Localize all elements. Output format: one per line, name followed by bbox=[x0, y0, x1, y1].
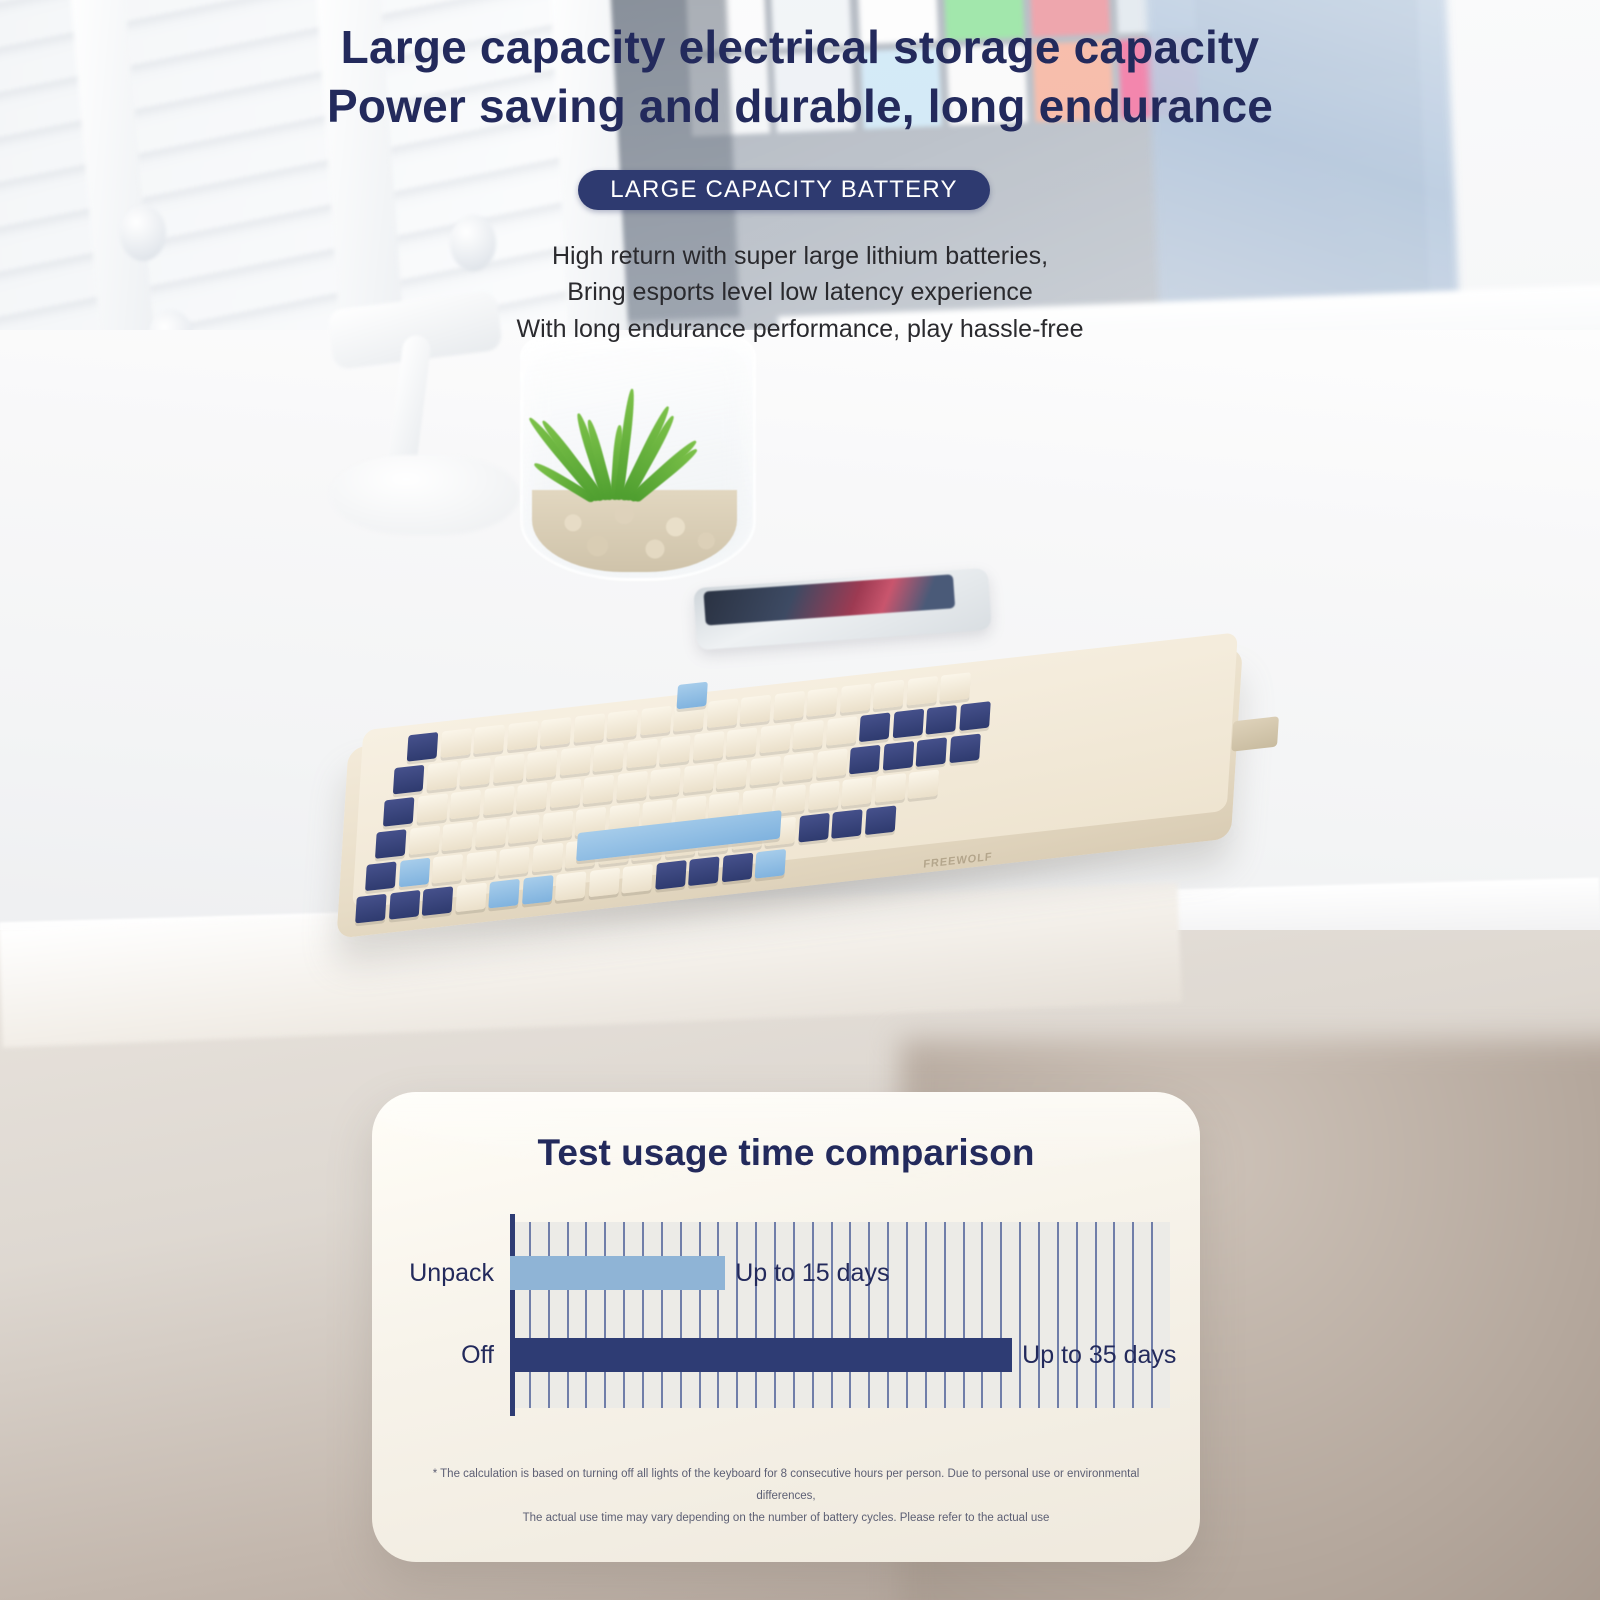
gridline bbox=[1038, 1222, 1040, 1408]
keycap bbox=[540, 717, 571, 747]
keycap bbox=[508, 814, 539, 844]
keycap bbox=[726, 727, 757, 757]
keycap bbox=[649, 767, 680, 797]
bar-off bbox=[510, 1338, 1012, 1372]
card-footnote: * The calculation is based on turning of… bbox=[372, 1464, 1200, 1530]
keycap bbox=[808, 781, 839, 811]
keycap bbox=[798, 813, 829, 843]
gridline bbox=[981, 1222, 983, 1408]
keycap bbox=[849, 745, 880, 775]
keycap bbox=[721, 853, 752, 883]
hero-headline: Large capacity electrical storage capaci… bbox=[0, 18, 1600, 136]
gridline bbox=[887, 1222, 889, 1408]
category-label-off: Off bbox=[374, 1341, 494, 1370]
keycap bbox=[475, 818, 506, 848]
gridline bbox=[831, 1222, 833, 1408]
keycap bbox=[626, 739, 657, 769]
gridline bbox=[604, 1222, 606, 1408]
gridline bbox=[963, 1222, 965, 1408]
keycap bbox=[873, 680, 904, 710]
keycap bbox=[583, 775, 614, 805]
keycap bbox=[465, 850, 496, 880]
keycap bbox=[716, 760, 747, 790]
gridline bbox=[812, 1222, 814, 1408]
gridline bbox=[1132, 1222, 1134, 1408]
desk-lamp-base bbox=[330, 455, 520, 535]
gridline bbox=[529, 1222, 531, 1408]
gridline bbox=[925, 1222, 927, 1408]
keycap bbox=[688, 856, 719, 886]
gridline bbox=[868, 1222, 870, 1408]
gridline bbox=[1076, 1222, 1078, 1408]
keycap bbox=[906, 676, 937, 706]
keycap bbox=[939, 672, 970, 702]
gridline bbox=[585, 1222, 587, 1408]
keycap bbox=[549, 778, 580, 808]
keycap bbox=[383, 797, 414, 827]
gridline bbox=[699, 1222, 701, 1408]
keycap bbox=[755, 849, 786, 879]
keyboard-side-port bbox=[1231, 716, 1279, 752]
headline-line-2: Power saving and durable, long endurance bbox=[0, 77, 1600, 136]
gridline bbox=[944, 1222, 946, 1408]
keycap bbox=[792, 720, 823, 750]
keycap bbox=[864, 805, 895, 835]
usage-comparison-card: Test usage time comparison Unpack Off Up… bbox=[372, 1092, 1200, 1562]
keycap bbox=[616, 771, 647, 801]
chart-y-axis bbox=[510, 1214, 515, 1416]
gridline bbox=[1019, 1222, 1021, 1408]
keycap bbox=[621, 864, 652, 894]
keycap bbox=[522, 875, 553, 905]
keycap bbox=[816, 749, 847, 779]
subcopy-line-3: With long endurance performance, play ha… bbox=[0, 311, 1600, 347]
subcopy-line-2: Bring esports level low latency experien… bbox=[0, 274, 1600, 310]
gridline bbox=[548, 1222, 550, 1408]
headline-line-1: Large capacity electrical storage capaci… bbox=[0, 18, 1600, 77]
value-label-off: Up to 35 days bbox=[1022, 1341, 1176, 1370]
keycap bbox=[874, 773, 905, 803]
keycap bbox=[407, 732, 438, 762]
keycap bbox=[841, 777, 872, 807]
keycap bbox=[426, 761, 457, 791]
gridline bbox=[1113, 1222, 1115, 1408]
keycap bbox=[388, 890, 419, 920]
keycap bbox=[692, 731, 723, 761]
product-marketing-image: FREEWOLF Large capacity electrical stora… bbox=[0, 0, 1600, 1600]
keycap bbox=[773, 691, 804, 721]
keycap bbox=[926, 705, 957, 735]
keycap bbox=[440, 728, 471, 758]
gridline bbox=[642, 1222, 644, 1408]
gridline bbox=[736, 1222, 738, 1408]
keycap bbox=[483, 786, 514, 816]
keycap bbox=[355, 894, 386, 924]
keycap bbox=[507, 721, 538, 751]
keycap bbox=[859, 712, 890, 742]
gridline bbox=[567, 1222, 569, 1408]
gridline bbox=[849, 1222, 851, 1408]
keycap bbox=[806, 687, 837, 717]
footnote-line-2: The actual use time may vary depending o… bbox=[406, 1508, 1166, 1530]
keycap bbox=[532, 843, 563, 873]
keycap bbox=[706, 698, 737, 728]
gridline bbox=[793, 1222, 795, 1408]
gridline bbox=[717, 1222, 719, 1408]
keycap bbox=[473, 725, 504, 755]
value-label-unpack: Up to 15 days bbox=[735, 1259, 889, 1288]
keycap bbox=[593, 742, 624, 772]
keycap bbox=[759, 724, 790, 754]
keycap bbox=[749, 756, 780, 786]
keycap bbox=[559, 746, 590, 776]
keycap bbox=[393, 765, 424, 795]
gridline bbox=[1151, 1222, 1153, 1408]
keycap bbox=[422, 886, 453, 916]
card-title: Test usage time comparison bbox=[372, 1132, 1200, 1174]
keycap bbox=[541, 810, 572, 840]
bar-chart: Unpack Off Up to 15 days Up to 35 days bbox=[510, 1222, 1170, 1408]
gridline bbox=[755, 1222, 757, 1408]
badge-label: LARGE CAPACITY BATTERY bbox=[610, 176, 957, 204]
large-capacity-battery-badge: LARGE CAPACITY BATTERY bbox=[578, 170, 990, 210]
keycap bbox=[782, 752, 813, 782]
gridline bbox=[774, 1222, 776, 1408]
keycap bbox=[573, 713, 604, 743]
keycap bbox=[526, 750, 557, 780]
keycap bbox=[455, 883, 486, 913]
keycap bbox=[498, 847, 529, 877]
keycap bbox=[683, 763, 714, 793]
keycap bbox=[892, 709, 923, 739]
keycap bbox=[640, 706, 671, 736]
footnote-line-1: * The calculation is based on turning of… bbox=[406, 1464, 1166, 1508]
category-label-unpack: Unpack bbox=[374, 1259, 494, 1288]
keycap bbox=[655, 860, 686, 890]
keycap bbox=[416, 793, 447, 823]
keycap bbox=[375, 829, 406, 859]
keycap bbox=[450, 790, 481, 820]
keycap bbox=[826, 716, 857, 746]
keycap bbox=[442, 822, 473, 852]
keycap bbox=[588, 868, 619, 898]
keycap bbox=[831, 809, 862, 839]
gridline bbox=[623, 1222, 625, 1408]
gridline bbox=[1000, 1222, 1002, 1408]
keycap bbox=[488, 879, 519, 909]
gridline bbox=[680, 1222, 682, 1408]
subcopy-line-1: High return with super large lithium bat… bbox=[0, 238, 1600, 274]
keycap bbox=[840, 683, 871, 713]
keycap bbox=[516, 782, 547, 812]
gridline bbox=[661, 1222, 663, 1408]
hero-subcopy: High return with super large lithium bat… bbox=[0, 238, 1600, 347]
keycap bbox=[676, 682, 707, 710]
keycap bbox=[959, 701, 990, 731]
keycap bbox=[432, 854, 463, 884]
keycap bbox=[659, 735, 690, 765]
keycap bbox=[949, 734, 980, 764]
keycap bbox=[740, 695, 771, 725]
keycap bbox=[408, 825, 439, 855]
keycap bbox=[459, 757, 490, 787]
keycap bbox=[882, 741, 913, 771]
gridline bbox=[1095, 1222, 1097, 1408]
keycap bbox=[555, 871, 586, 901]
keycap bbox=[607, 710, 638, 740]
gridline bbox=[1057, 1222, 1059, 1408]
keycap bbox=[398, 858, 429, 888]
keycap bbox=[916, 737, 947, 767]
bar-unpack bbox=[510, 1256, 725, 1290]
keycap bbox=[365, 861, 396, 891]
keycap bbox=[908, 769, 939, 799]
gridline bbox=[906, 1222, 908, 1408]
keycap bbox=[493, 754, 524, 784]
